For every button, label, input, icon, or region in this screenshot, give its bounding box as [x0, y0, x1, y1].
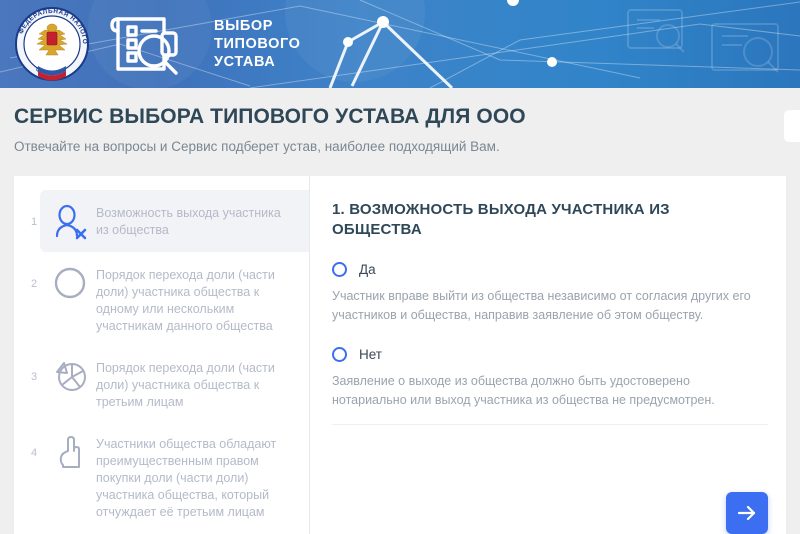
banner-line-1: ВЫБОР — [214, 17, 300, 35]
option-yes[interactable]: Да Участник вправе выйти из общества нез… — [332, 262, 758, 325]
step-number: 3 — [24, 355, 44, 383]
sidebar-item-label: Участники общества обладают преимуществе… — [96, 431, 297, 521]
pointing-hand-icon — [44, 431, 96, 469]
sidebar-item-step-3[interactable]: 3 Порядок перехода доли (части доли) уча… — [14, 345, 309, 421]
banner-line-3: УСТАВА — [214, 53, 300, 71]
question-pane: 1. ВОЗМОЖНОСТЬ ВЫХОДА УЧАСТНИКА ИЗ ОБЩЕС… — [310, 176, 786, 534]
option-yes-head[interactable]: Да — [332, 262, 758, 277]
page-title-block: СЕРВИС ВЫБОРА ТИПОВОГО УСТАВА ДЛЯ ООО От… — [0, 88, 800, 156]
option-no-description: Заявление о выходе из общества должно бы… — [332, 372, 758, 410]
pie-chart-icon — [44, 355, 96, 393]
next-button[interactable] — [726, 492, 768, 534]
sidebar-item-step-4[interactable]: 4 Участники общества обладают преимущест… — [14, 421, 309, 531]
banner-line-2: ТИПОВОГО — [214, 35, 300, 53]
radio-yes[interactable] — [332, 262, 347, 277]
fns-emblem: ФЕДЕРАЛЬНАЯ НАЛОГОВАЯ СЛУЖБА — [14, 6, 90, 82]
page-title: СЕРВИС ВЫБОРА ТИПОВОГО УСТАВА ДЛЯ ООО — [14, 104, 800, 130]
option-no[interactable]: Нет Заявление о выходе из общества должн… — [332, 347, 758, 410]
step-number: 1 — [24, 200, 44, 228]
section-divider — [332, 424, 768, 425]
option-no-head[interactable]: Нет — [332, 347, 758, 362]
banner-title: ВЫБОР ТИПОВОГО УСТАВА — [214, 17, 300, 71]
document-magnifier-icon — [106, 11, 192, 77]
step-number: 2 — [24, 262, 44, 290]
page-subtitle: Отвечайте на вопросы и Сервис подберет у… — [14, 138, 800, 156]
site-header: ФЕДЕРАЛЬНАЯ НАЛОГОВАЯ СЛУЖБА — [0, 0, 800, 88]
radio-no[interactable] — [332, 347, 347, 362]
steps-sidebar: 1 Возможность выхода участника из общест… — [14, 176, 310, 534]
sidebar-item-label: Возможность выхода участника из общества — [96, 200, 297, 239]
circle-icon — [44, 262, 96, 300]
edge-chip[interactable] — [784, 110, 800, 142]
user-exit-icon — [44, 200, 96, 240]
sidebar-item-step-1[interactable]: 1 Возможность выхода участника из общест… — [14, 190, 309, 252]
step-number: 4 — [24, 431, 44, 459]
option-yes-label: Да — [359, 262, 376, 277]
sidebar-item-label: Порядок перехода доли (части доли) участ… — [96, 355, 297, 411]
sidebar-item-label: Порядок перехода доли (части доли) участ… — [96, 262, 297, 335]
option-no-label: Нет — [359, 347, 382, 362]
question-title: 1. ВОЗМОЖНОСТЬ ВЫХОДА УЧАСТНИКА ИЗ ОБЩЕС… — [332, 200, 758, 240]
arrow-right-icon — [737, 505, 757, 521]
main-card: 1 Возможность выхода участника из общест… — [14, 176, 786, 534]
option-yes-description: Участник вправе выйти из общества незави… — [332, 287, 758, 325]
sidebar-item-step-2[interactable]: 2 Порядок перехода доли (части доли) уча… — [14, 252, 309, 345]
